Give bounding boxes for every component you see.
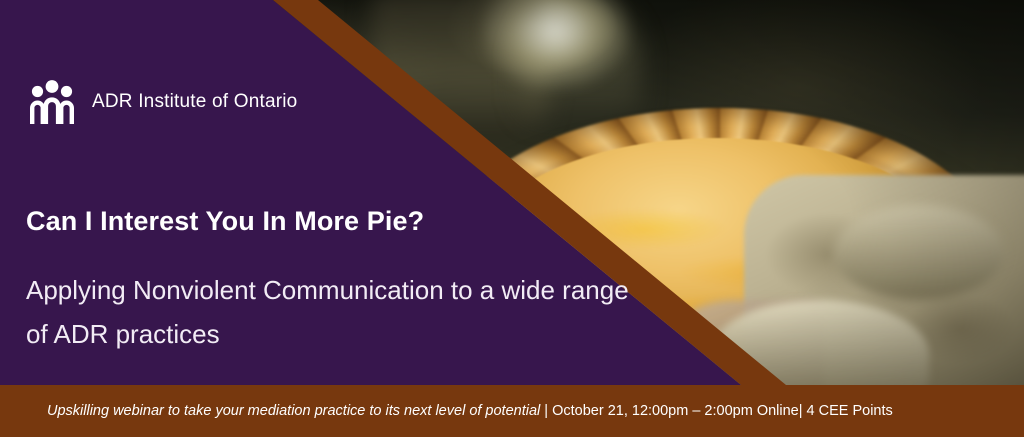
three-people-icon	[26, 78, 78, 126]
webinar-promo-banner: ADR Institute of Ontario Can I Interest …	[0, 0, 1024, 437]
footer-text: Upskilling webinar to take your mediatio…	[47, 403, 893, 419]
page-title: Can I Interest You In More Pie?	[26, 206, 424, 237]
footer-details: | October 21, 12:00pm – 2:00pm Online| 4…	[540, 403, 893, 419]
footer-bar: Upskilling webinar to take your mediatio…	[0, 385, 1024, 437]
page-subtitle: Applying Nonviolent Communication to a w…	[26, 268, 646, 356]
footer-tagline: Upskilling webinar to take your mediatio…	[47, 403, 540, 419]
brand-logo: ADR Institute of Ontario	[26, 78, 297, 126]
brand-name: ADR Institute of Ontario	[92, 91, 297, 113]
